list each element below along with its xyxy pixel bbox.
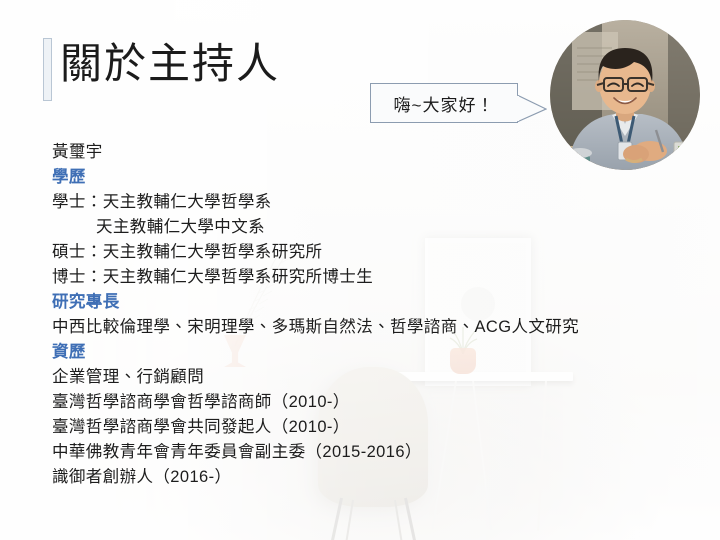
speech-bubble-text: 嗨~大家好！ — [394, 91, 495, 116]
chair-leg-decor — [404, 498, 416, 540]
education-line: 天主教輔仁大學中文系 — [52, 215, 672, 240]
title-accent-bar — [43, 38, 52, 101]
chair-leg-decor — [345, 500, 354, 540]
experience-line: 企業管理、行銷顧問 — [52, 365, 672, 390]
education-line: 碩士：天主教輔仁大學哲學系研究所 — [52, 240, 672, 265]
profile-text-block: 黃璽宇 學歷 學士：天主教輔仁大學哲學系 天主教輔仁大學中文系 碩士：天主教輔仁… — [52, 140, 672, 490]
chair-leg-decor — [394, 500, 403, 540]
speech-bubble-tail-icon — [517, 95, 547, 125]
speech-bubble: 嗨~大家好！ — [370, 83, 518, 123]
page-title: 關於主持人 — [60, 35, 280, 93]
education-line: 學士：天主教輔仁大學哲學系 — [52, 190, 672, 215]
experience-line: 識御者創辦人（2016-） — [52, 465, 672, 490]
experience-line: 臺灣哲學諮商學會共同發起人（2010-） — [52, 415, 672, 440]
profile-name: 黃璽宇 — [52, 140, 672, 165]
education-line: 博士：天主教輔仁大學哲學系研究所博士生 — [52, 265, 672, 290]
slide-canvas: 關於主持人 嗨~大家好！ — [0, 0, 720, 540]
experience-line: 中華佛教青年會青年委員會副主委（2015-2016） — [52, 440, 672, 465]
chair-leg-decor — [331, 498, 343, 540]
section-heading-experience: 資歷 — [52, 340, 672, 365]
research-line: 中西比較倫理學、宋明理學、多瑪斯自然法、哲學諮商、ACG人文研究 — [52, 315, 672, 340]
section-heading-research: 研究專長 — [52, 290, 672, 315]
section-heading-education: 學歷 — [52, 165, 672, 190]
experience-line: 臺灣哲學諮商學會哲學諮商師（2010-） — [52, 390, 672, 415]
